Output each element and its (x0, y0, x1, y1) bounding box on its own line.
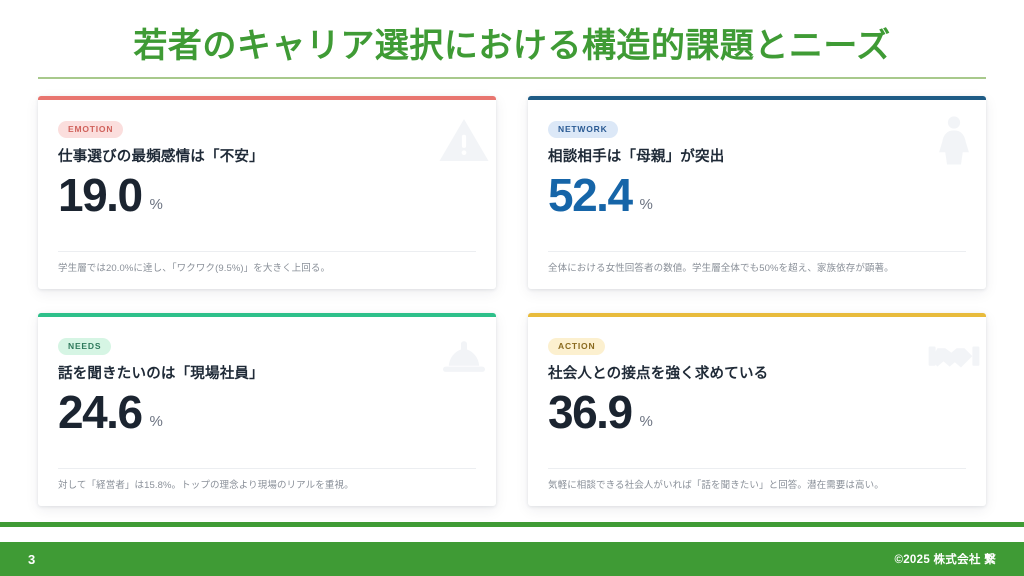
card-badge: ACTION (548, 338, 605, 355)
card-note: 対して「経営者」は15.8%。トップの理念より現場のリアルを重視。 (58, 468, 476, 506)
footer-bar: 3 ©2025 株式会社 繋 (0, 542, 1024, 576)
metric-unit: % (640, 197, 653, 212)
card-note: 学生層では20.0%に達し、「ワクワク(9.5%)」を大きく上回る。 (58, 251, 476, 289)
metric-unit: % (640, 414, 653, 429)
card-note: 全体における女性回答者の数値。学生層全体でも50%を超え、家族依存が顕著。 (548, 251, 966, 289)
page-title: 若者のキャリア選択における構造的課題とニーズ (38, 24, 986, 68)
footer-accent-rule (0, 522, 1024, 527)
stat-card-network[interactable]: NETWORK 相談相手は「母親」が突出 52.4 % 全体における女性回答者の… (528, 96, 986, 289)
card-badge: NEEDS (58, 338, 111, 355)
metric-value: 36.9 (548, 389, 632, 435)
card-metric: 36.9 % (548, 389, 966, 435)
card-badge: NETWORK (548, 121, 618, 138)
copyright-text: ©2025 株式会社 繋 (894, 551, 996, 567)
metric-value: 52.4 (548, 172, 632, 218)
metric-value: 19.0 (58, 172, 142, 218)
slide-root: 若者のキャリア選択における構造的課題とニーズ EMOTION 仕事選びの最頻感情… (0, 0, 1024, 576)
stat-card-needs[interactable]: NEEDS 話を聞きたいのは「現場社員」 24.6 % 対して「経営者」は15.… (38, 313, 496, 506)
card-badge: EMOTION (58, 121, 123, 138)
card-heading: 社会人との接点を強く求めている (548, 366, 966, 383)
card-heading: 相談相手は「母親」が突出 (548, 149, 966, 166)
card-heading: 話を聞きたいのは「現場社員」 (58, 366, 476, 383)
card-heading: 仕事選びの最頻感情は「不安」 (58, 149, 476, 166)
metric-unit: % (150, 197, 163, 212)
card-metric: 24.6 % (58, 389, 476, 435)
card-note: 気軽に相談できる社会人がいれば「話を聞きたい」と回答。潜在需要は高い。 (548, 468, 966, 506)
metric-value: 24.6 (58, 389, 142, 435)
stat-card-action[interactable]: ACTION 社会人との接点を強く求めている 36.9 % 気軽に相談できる社会… (528, 313, 986, 506)
title-block: 若者のキャリア選択における構造的課題とニーズ (38, 24, 986, 79)
card-grid: EMOTION 仕事選びの最頻感情は「不安」 19.0 % 学生層では20.0%… (38, 96, 986, 506)
card-metric: 19.0 % (58, 172, 476, 218)
page-number: 3 (28, 552, 35, 567)
title-divider (38, 77, 986, 79)
stat-card-emotion[interactable]: EMOTION 仕事選びの最頻感情は「不安」 19.0 % 学生層では20.0%… (38, 96, 496, 289)
card-metric: 52.4 % (548, 172, 966, 218)
metric-unit: % (150, 414, 163, 429)
